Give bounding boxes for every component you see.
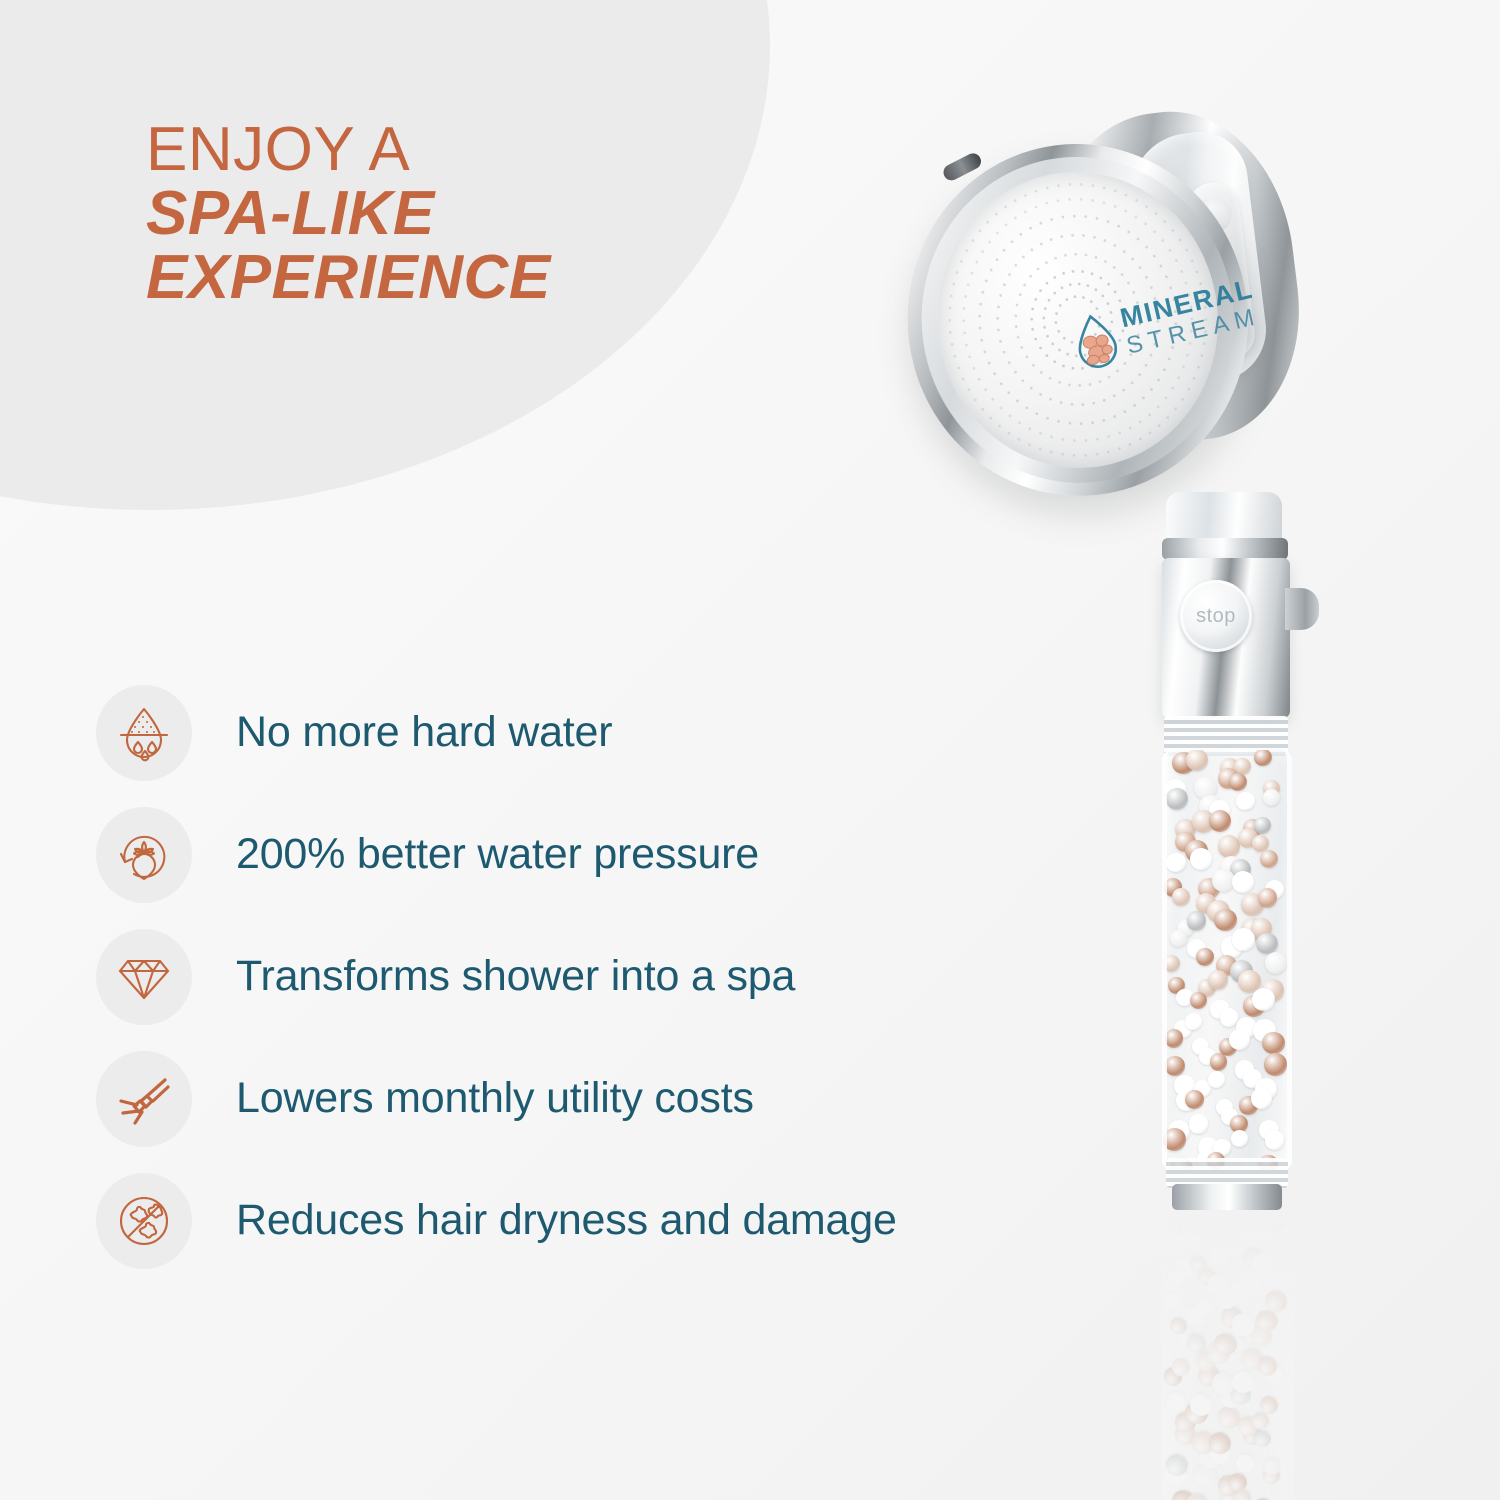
shower-head: MINERAL STREAM [877, 96, 1343, 544]
reflection-beads [1162, 1214, 1294, 1500]
savings-bundle-icon [96, 1051, 192, 1147]
hose-connector [1172, 1184, 1282, 1210]
headline: ENJOY A SPA-LIKE EXPERIENCE [146, 118, 551, 310]
stop-button[interactable]: stop [1180, 580, 1252, 652]
lotus-heart-refresh-icon [96, 807, 192, 903]
chamber-glass [1162, 750, 1292, 1170]
mineral-bead-chamber [1162, 750, 1292, 1170]
mineral-droplet-icon [96, 685, 192, 781]
feature-item: No more hard water [96, 672, 1056, 794]
feature-item: Reduces hair dryness and damage [96, 1160, 1056, 1282]
handle-collar [1162, 538, 1288, 560]
stop-button-label: stop [1196, 605, 1236, 628]
headline-line-3: EXPERIENCE [146, 246, 551, 310]
headline-line-2: SPA-LIKE [146, 182, 551, 246]
feature-item: Transforms shower into a spa [96, 916, 1056, 1038]
product-reflection [1162, 1214, 1294, 1500]
promo-graphic: ENJOY A SPA-LIKE EXPERIENCE [0, 0, 1500, 1500]
feature-item: 200% better water pressure [96, 794, 1056, 916]
feature-label: 200% better water pressure [236, 830, 759, 880]
feature-item: Lowers monthly utility costs [96, 1038, 1056, 1160]
no-flakes-icon [96, 1173, 192, 1269]
feature-label: No more hard water [236, 708, 612, 758]
side-toggle[interactable] [1285, 588, 1319, 630]
feature-label: Transforms shower into a spa [236, 952, 795, 1002]
feature-label: Lowers monthly utility costs [236, 1074, 754, 1124]
headline-line-1: ENJOY A [146, 118, 551, 182]
diamond-icon [96, 929, 192, 1025]
feature-list: No more hard water 200% better water pre… [96, 672, 1056, 1282]
feature-label: Reduces hair dryness and damage [236, 1196, 897, 1246]
